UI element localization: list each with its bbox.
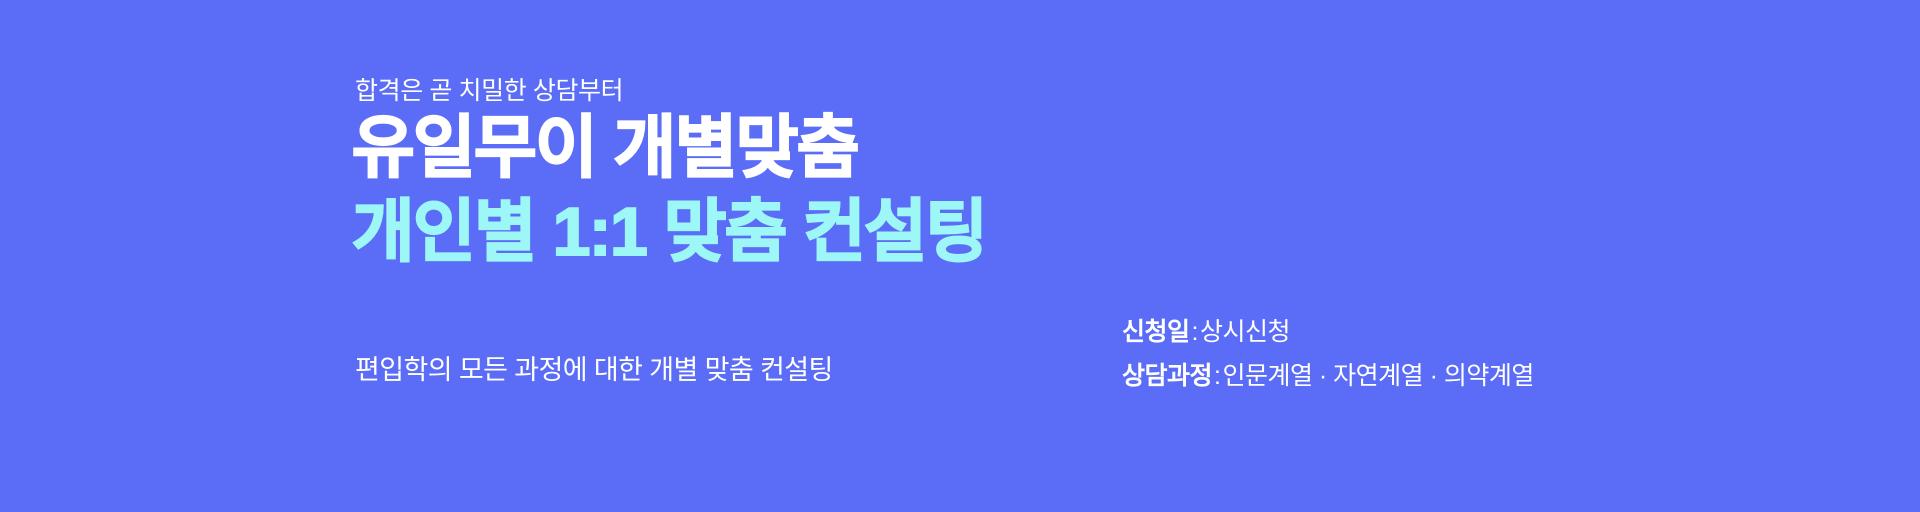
banner-eyebrow: 합격은 곧 치밀한 상담부터 <box>355 76 623 106</box>
info-separator: : <box>1212 362 1222 390</box>
info-row-application-date: 신청일:상시신청 <box>1122 310 1534 354</box>
banner-info-list: 신청일:상시신청 상담과정:인문계열 · 자연계열 · 의약계열 <box>1122 310 1534 398</box>
banner-description: 편입학의 모든 과정에 대한 개별 맞춤 컨설팅 <box>355 353 833 388</box>
info-value: 인문계열 · 자연계열 · 의약계열 <box>1222 362 1533 390</box>
banner-headline-line-2: 개인별 1:1 맞춤 컨설팅 <box>352 192 986 272</box>
banner-content: 합격은 곧 치밀한 상담부터 유일무이 개별맞춤 개인별 1:1 맞춤 컨설팅 … <box>0 0 1920 512</box>
banner-headline-line-1: 유일무이 개별맞춤 <box>352 108 858 188</box>
promo-banner: 합격은 곧 치밀한 상담부터 유일무이 개별맞춤 개인별 1:1 맞춤 컨설팅 … <box>0 0 1920 512</box>
info-label: 상담과정 <box>1122 362 1212 390</box>
info-row-consulting-track: 상담과정:인문계열 · 자연계열 · 의약계열 <box>1122 354 1534 398</box>
info-label: 신청일 <box>1122 318 1190 346</box>
info-value: 상시신청 <box>1200 318 1290 346</box>
info-separator: : <box>1190 318 1200 346</box>
